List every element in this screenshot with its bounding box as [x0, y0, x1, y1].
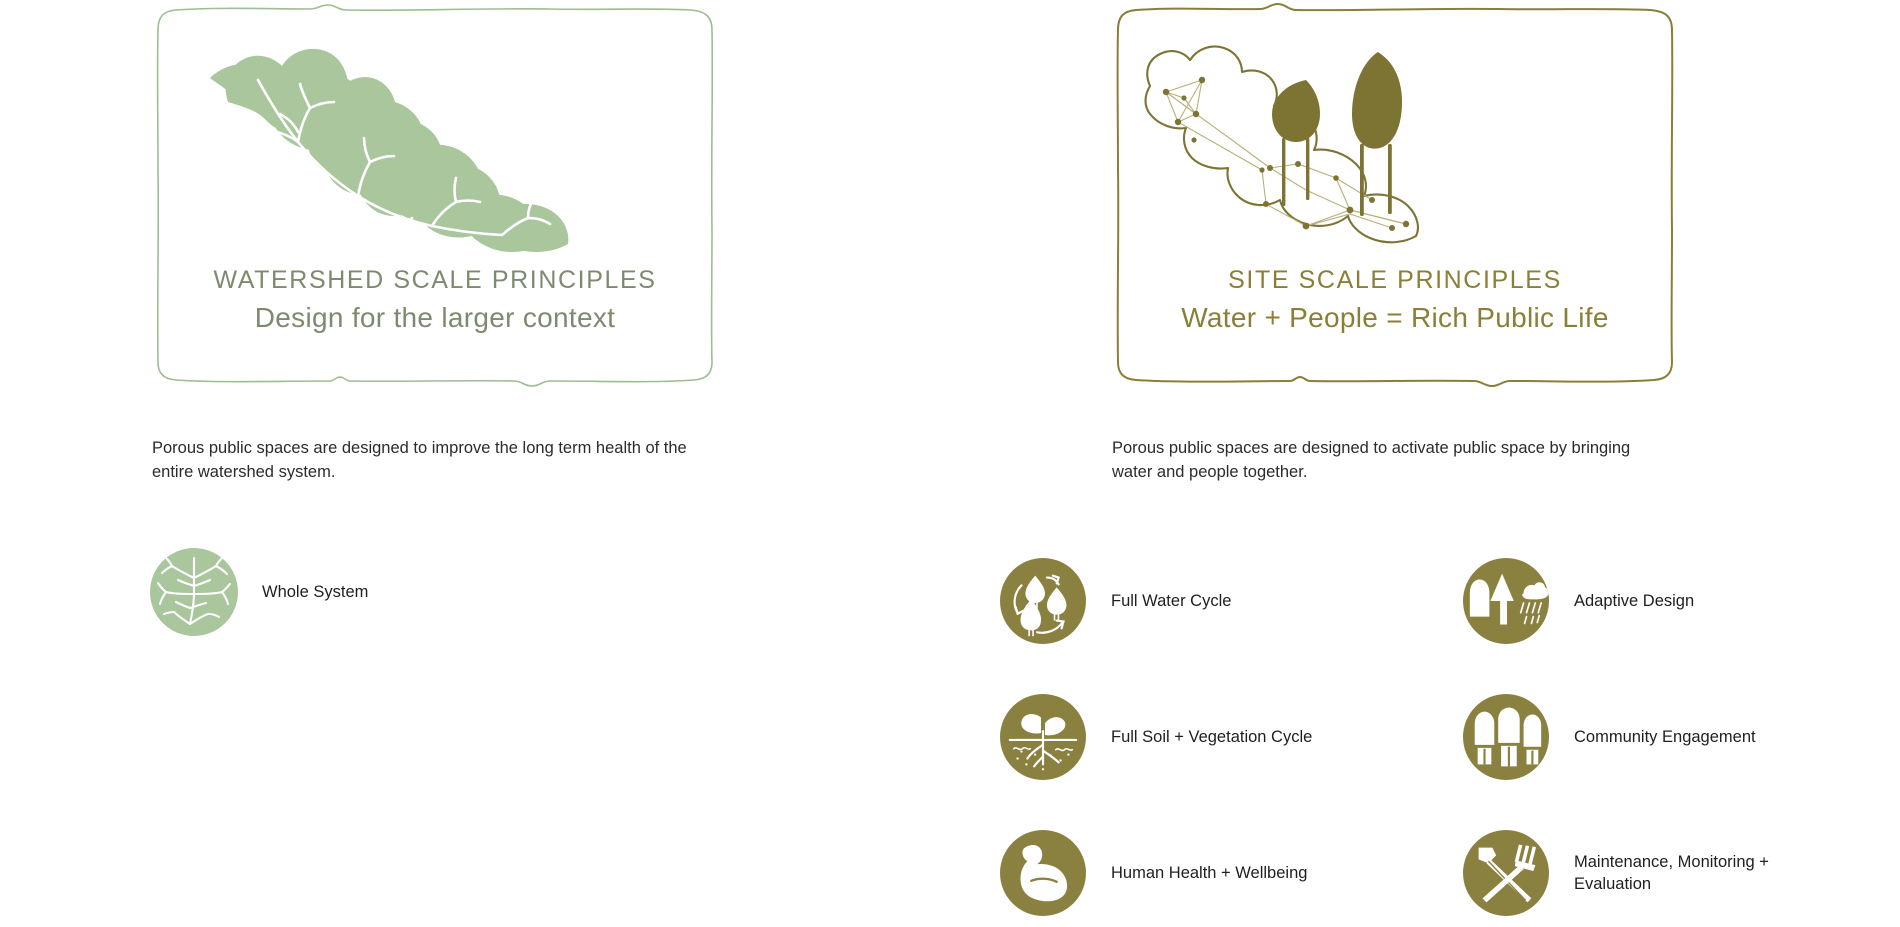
list-item-label: Maintenance, Monitoring + Evaluation: [1574, 851, 1830, 896]
watershed-icon-list: Whole System: [150, 548, 368, 636]
list-item-label: Full Soil + Vegetation Cycle: [1111, 726, 1312, 748]
trees-rain-cloud-icon: [1463, 558, 1549, 644]
water-droplet-cycle-icon: [1000, 558, 1086, 644]
figure-small: [1272, 80, 1320, 206]
branching-network-icon: [150, 548, 238, 636]
site-watershed-outline-with-figures-illustration: [1110, 18, 1680, 258]
site-icon-column-left: Full Water Cycle: [1000, 533, 1312, 927]
panel-watershed-scale: WATERSHED SCALE PRINCIPLES Design for th…: [120, 0, 840, 390]
watershed-title-sub: Design for the larger context: [150, 304, 720, 332]
site-caption: Porous public spaces are designed to act…: [1112, 437, 1642, 485]
list-item-adaptive-design[interactable]: Adaptive Design: [1463, 533, 1830, 669]
list-item-label: Community Engagement: [1574, 726, 1756, 748]
list-item-human-health-wellbeing[interactable]: Human Health + Wellbeing: [1000, 805, 1312, 927]
list-item-full-water-cycle[interactable]: Full Water Cycle: [1000, 533, 1312, 669]
list-item-label: Whole System: [262, 581, 368, 603]
watershed-map-illustration: [150, 18, 720, 258]
people-figures-icon: [1463, 694, 1549, 780]
crossed-shovel-pitchfork-icon: [1463, 830, 1549, 916]
list-item-community-engagement[interactable]: Community Engagement: [1463, 669, 1830, 805]
site-card: SITE SCALE PRINCIPLES Water + People = R…: [1110, 0, 1680, 390]
list-item-whole-system[interactable]: Whole System: [150, 548, 368, 636]
flexed-bicep-icon: [1000, 830, 1086, 916]
site-titles: SITE SCALE PRINCIPLES Water + People = R…: [1110, 268, 1680, 332]
list-item-full-soil-vegetation-cycle[interactable]: Full Soil + Vegetation Cycle: [1000, 669, 1312, 805]
panel-site-scale: SITE SCALE PRINCIPLES Water + People = R…: [1090, 0, 1830, 390]
list-item-label: Full Water Cycle: [1111, 590, 1231, 612]
site-icon-column-right: Adaptive Design: [1463, 533, 1830, 927]
watershed-caption: Porous public spaces are designed to imp…: [152, 437, 732, 485]
list-item-label: Human Health + Wellbeing: [1111, 862, 1307, 884]
watershed-card: WATERSHED SCALE PRINCIPLES Design for th…: [150, 0, 720, 390]
list-item-label: Adaptive Design: [1574, 590, 1694, 612]
figure-large: [1352, 52, 1402, 216]
principles-board: WATERSHED SCALE PRINCIPLES Design for th…: [0, 0, 1900, 927]
site-title-sub: Water + People = Rich Public Life: [1110, 304, 1680, 332]
watershed-titles: WATERSHED SCALE PRINCIPLES Design for th…: [150, 268, 720, 332]
sprout-roots-soil-icon: [1000, 694, 1086, 780]
watershed-title-main: WATERSHED SCALE PRINCIPLES: [150, 268, 720, 293]
site-title-main: SITE SCALE PRINCIPLES: [1110, 268, 1680, 293]
list-item-maintenance-monitoring-evaluation[interactable]: Maintenance, Monitoring + Evaluation: [1463, 805, 1830, 927]
